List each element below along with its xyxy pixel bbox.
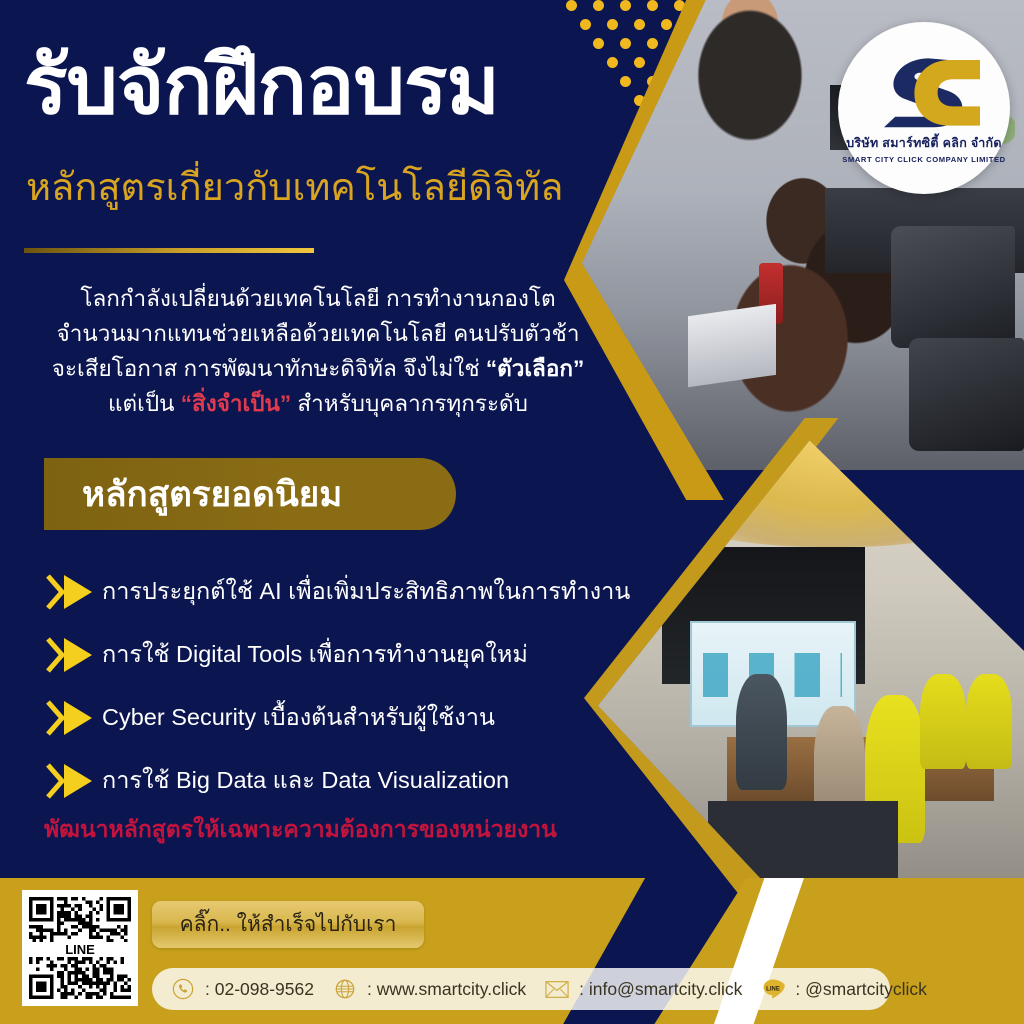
intro-line-4-highlight: “สิ่งจำเป็น” bbox=[181, 391, 291, 416]
logo-company-name-en: SMART CITY CLICK COMPANY LIMITED bbox=[842, 155, 1005, 164]
line-id[interactable]: : @smartcityclick bbox=[795, 979, 927, 1000]
list-item: การใช้ Big Data และ Data Visualization bbox=[46, 749, 646, 812]
website-url[interactable]: : www.smartcity.click bbox=[367, 979, 526, 1000]
line-qr-code[interactable]: LINE bbox=[22, 890, 138, 1006]
company-logo-badge: บริษัท สมาร์ทซิตี้ คลิก จำกัด SMART CITY… bbox=[838, 22, 1010, 194]
course-label: การประยุกต์ใช้ AI เพื่อเพิ่มประสิทธิภาพใ… bbox=[102, 577, 630, 605]
email-address[interactable]: : info@smartcity.click bbox=[579, 979, 742, 1000]
logo-company-name-th: บริษัท สมาร์ทซิตี้ คลิก จำกัด bbox=[846, 133, 1002, 153]
phone-icon bbox=[170, 976, 196, 1002]
double-chevron-icon bbox=[46, 572, 102, 612]
intro-line-4: แต่เป็น “สิ่งจำเป็น” สำหรับบุคลากรทุกระด… bbox=[0, 387, 636, 422]
list-item: Cyber Security เบื้องต้นสำหรับผู้ใช้งาน bbox=[46, 686, 646, 749]
qr-code-image: LINE bbox=[29, 897, 131, 999]
custom-course-note: พัฒนาหลักสูตรให้เฉพาะความต้องการของหน่วย… bbox=[44, 812, 644, 848]
title-divider bbox=[24, 248, 314, 253]
course-label: Cyber Security เบื้องต้นสำหรับผู้ใช้งาน bbox=[102, 703, 495, 731]
course-label: การใช้ Big Data และ Data Visualization bbox=[102, 766, 509, 794]
double-chevron-icon bbox=[46, 635, 102, 675]
intro-line-4-text: แต่เป็น bbox=[108, 391, 181, 416]
intro-line-3: จะเสียโอกาส การพัฒนาทักษะดิจิทัล จึงไม่ใ… bbox=[0, 352, 636, 387]
intro-line-1: โลกกำลังเปลี่ยนด้วยเทคโนโลยี การทำงานกอง… bbox=[0, 282, 636, 317]
intro-line-3-emphasis: “ตัวเลือก” bbox=[486, 356, 584, 381]
page-title: รับจักฝึกอบรม bbox=[24, 44, 624, 130]
qr-line-label: LINE bbox=[29, 942, 131, 957]
line-icon: LINE bbox=[760, 976, 786, 1002]
intro-line-2: จำนวนมากแทนช่วยเหลือด้วยเทคโนโลยี คนปรับ… bbox=[0, 317, 636, 352]
intro-paragraph: โลกกำลังเปลี่ยนด้วยเทคโนโลยี การทำงานกอง… bbox=[0, 282, 636, 422]
intro-line-3-text: จะเสียโอกาส การพัฒนาทักษะดิจิทัล จึงไม่ใ… bbox=[52, 356, 486, 381]
course-list: การประยุกต์ใช้ AI เพื่อเพิ่มประสิทธิภาพใ… bbox=[46, 560, 646, 812]
cta-button[interactable]: คลิ๊ก.. ให้สำเร็จไปกับเรา bbox=[152, 901, 424, 948]
svg-text:LINE: LINE bbox=[767, 986, 781, 992]
envelope-icon bbox=[544, 976, 570, 1002]
popular-courses-label: หลักสูตรยอดนิยม bbox=[44, 467, 342, 522]
contact-bar: : 02-098-9562 : www.smartcity.click : in… bbox=[152, 968, 890, 1010]
phone-number[interactable]: : 02-098-9562 bbox=[205, 979, 314, 1000]
sc-monogram-icon bbox=[860, 53, 988, 131]
poster-canvas: บริษัท สมาร์ทซิตี้ คลิก จำกัด SMART CITY… bbox=[0, 0, 1024, 1024]
double-chevron-icon bbox=[46, 698, 102, 738]
intro-line-4-tail: สำหรับบุคลากรทุกระดับ bbox=[291, 391, 528, 416]
list-item: การใช้ Digital Tools เพื่อการทำงานยุคใหม… bbox=[46, 623, 646, 686]
course-label: การใช้ Digital Tools เพื่อการทำงานยุคใหม… bbox=[102, 640, 528, 668]
double-chevron-icon bbox=[46, 761, 102, 801]
popular-courses-banner: หลักสูตรยอดนิยม bbox=[44, 458, 456, 530]
cta-label: คลิ๊ก.. ให้สำเร็จไปกับเรา bbox=[180, 908, 397, 941]
page-subtitle: หลักสูตรเกี่ยวกับเทคโนโลยีดิจิทัล bbox=[26, 168, 646, 210]
globe-icon bbox=[332, 976, 358, 1002]
list-item: การประยุกต์ใช้ AI เพื่อเพิ่มประสิทธิภาพใ… bbox=[46, 560, 646, 623]
